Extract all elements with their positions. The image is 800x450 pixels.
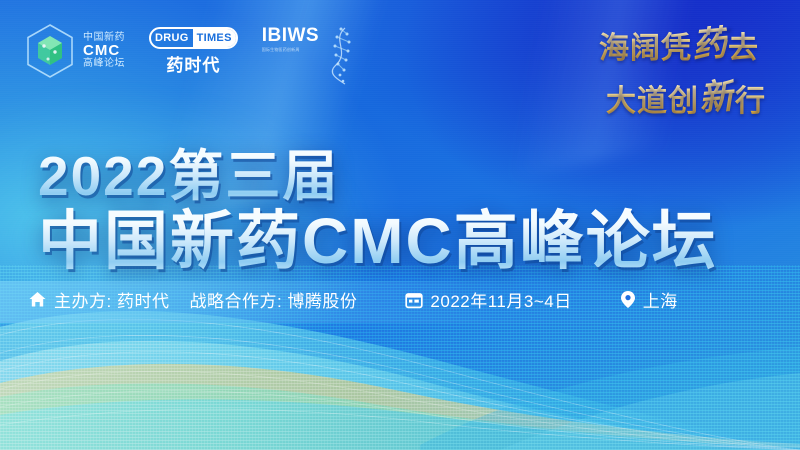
slogan-l2-b: 新 (697, 68, 737, 122)
drug-times-pill-right: TIMES (193, 29, 236, 47)
drug-times-pill: DRUG TIMES (149, 27, 238, 49)
slogan-l1-b: 药 (690, 15, 730, 69)
cmc-logo-line3: 高峰论坛 (83, 59, 125, 70)
slogan-l2-c: 行 (735, 76, 766, 120)
home-icon (28, 290, 47, 309)
info-organizer-text: 主办方: 药时代 (54, 287, 169, 312)
conference-banner: 中国新药 CMC 高峰论坛 DRUG TIMES 药时代 IBIWS 国际生物医… (0, 0, 800, 450)
info-item-organizer: 主办方: 药时代 (28, 287, 169, 312)
info-partner-text: 战略合作方: 博腾股份 (189, 287, 357, 312)
logo-bar: 中国新药 CMC 高峰论坛 DRUG TIMES 药时代 IBIWS 国际生物医… (24, 14, 355, 88)
drug-times-logo[interactable]: DRUG TIMES 药时代 (149, 27, 238, 76)
drug-times-pill-left: DRUG (151, 29, 193, 47)
info-date-text: 2022年11月3~4日 (430, 287, 571, 312)
info-location-text: 上海 (643, 287, 678, 312)
info-bar: 主办方: 药时代 战略合作方: 博腾股份 2022年11月3~4日 (28, 287, 678, 312)
slogan-l1-a: 海阔凭 (599, 23, 692, 67)
drug-times-chinese: 药时代 (166, 51, 220, 76)
slogan-l2-a: 大道创 (606, 76, 699, 120)
page-title-line2: 中国新药CMC高峰论坛 (38, 190, 718, 282)
slogan-line-1: 海阔凭 药 去 (592, 18, 766, 69)
info-item-location: 上海 (620, 287, 678, 312)
dna-helix-icon (321, 26, 355, 88)
slogan-l1-c: 去 (728, 23, 759, 67)
slogan-line-2: 大道创 新 行 (606, 71, 766, 122)
slogan: 海阔凭 药 去 大道创 新 行 (592, 18, 766, 122)
ibiws-acronym: IBIWS (262, 26, 319, 45)
info-item-date: 2022年11月3~4日 (405, 287, 571, 312)
location-icon (620, 290, 636, 309)
ibiws-subtitle: 国际生物医药创新周 (262, 47, 319, 53)
cmc-logo-line2: CMC (83, 43, 125, 59)
cmc-forum-logo[interactable]: 中国新药 CMC 高峰论坛 (24, 22, 125, 80)
ibiws-logo[interactable]: IBIWS 国际生物医药创新周 (262, 14, 355, 88)
hexagon-molecule-icon (24, 22, 76, 80)
info-item-partner: 战略合作方: 博腾股份 (189, 287, 357, 312)
calendar-icon (405, 291, 423, 309)
